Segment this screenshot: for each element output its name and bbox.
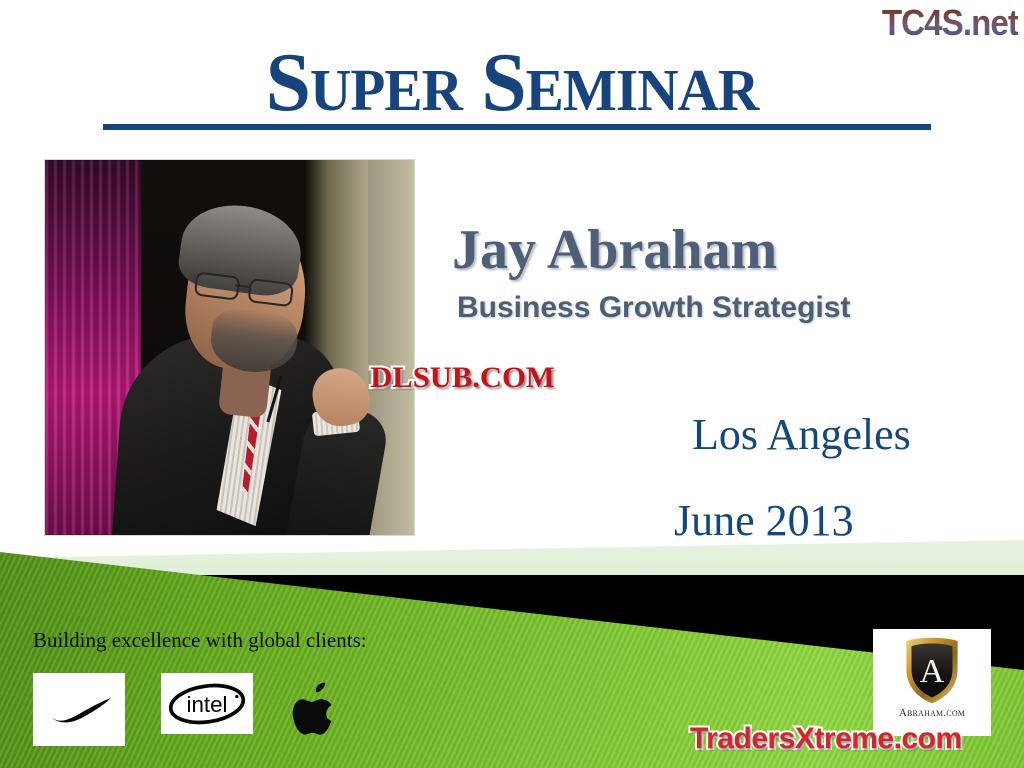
intel-logo-icon: intel	[166, 680, 248, 728]
client-logo-intel: intel	[161, 673, 253, 734]
abraham-badge: A Abraham.com	[873, 629, 991, 736]
nike-swoosh-icon	[46, 697, 112, 723]
event-location: Los Angeles	[692, 411, 911, 459]
page-title: Super Seminar	[15, 40, 1008, 126]
shield-icon: A	[901, 635, 963, 705]
svg-text:A: A	[920, 653, 945, 690]
speaker-role: Business Growth Strategist	[457, 291, 850, 325]
tc4s-watermark: TC4S.net	[882, 2, 1018, 44]
event-date: June 2013	[674, 497, 854, 545]
client-logo-apple	[290, 676, 342, 738]
abraham-badge-text: Abraham.com	[899, 707, 965, 719]
title-underline	[103, 124, 931, 130]
speaker-photo	[45, 160, 414, 535]
speaker-name: Jay Abraham	[452, 221, 777, 279]
tradersxtreme-watermark: TradersXtreme.com	[690, 722, 962, 756]
presentation-slide: TC4S.net Super Seminar DLSUB.COM Jay Abr…	[0, 0, 1024, 768]
dlsub-watermark: DLSUB.COM	[370, 361, 554, 395]
clients-label: Building excellence with global clients:	[33, 628, 367, 653]
client-logo-nike	[33, 673, 125, 746]
svg-text:intel: intel	[186, 692, 227, 717]
